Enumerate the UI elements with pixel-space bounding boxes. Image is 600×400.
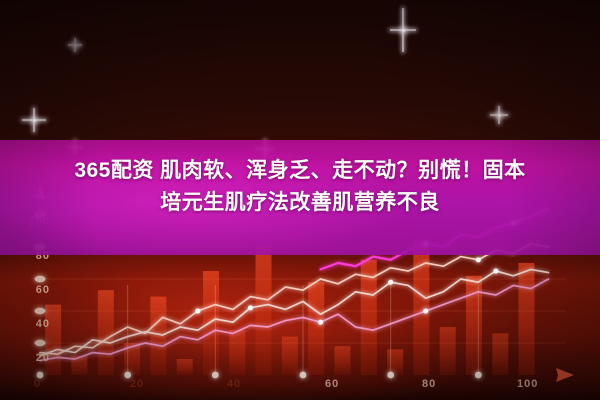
bar bbox=[177, 359, 193, 375]
data-point-marker bbox=[318, 320, 323, 325]
y-tick-dot bbox=[35, 276, 46, 282]
data-point-marker bbox=[423, 308, 428, 313]
x-tick-dot bbox=[387, 372, 394, 379]
data-point-marker bbox=[476, 257, 481, 262]
bar bbox=[45, 305, 61, 375]
bar bbox=[282, 337, 298, 375]
bar bbox=[387, 349, 403, 375]
data-point-marker bbox=[388, 280, 393, 285]
title-line-1: 365配资 肌肉软、浑身乏、走不动？别慌！固本 bbox=[0, 155, 600, 187]
y-tick-dot bbox=[35, 340, 46, 346]
bar bbox=[519, 263, 535, 375]
bar bbox=[466, 276, 482, 375]
y-tick-label-40: 40 bbox=[4, 318, 50, 330]
bar bbox=[256, 245, 272, 375]
x-tick-label-40: 40 bbox=[227, 378, 241, 390]
x-tick-dot bbox=[475, 372, 482, 379]
bar bbox=[334, 346, 350, 375]
x-tick-dot bbox=[212, 372, 219, 379]
bar bbox=[492, 333, 508, 375]
data-point-marker bbox=[248, 305, 253, 310]
bar bbox=[229, 330, 245, 375]
bar bbox=[98, 290, 114, 375]
bar bbox=[413, 241, 429, 375]
bar bbox=[440, 327, 456, 375]
x-tick-label-80: 80 bbox=[422, 378, 436, 390]
bar bbox=[203, 271, 219, 375]
x-tick-label-0: 0 bbox=[34, 378, 41, 390]
x-tick-label-60: 60 bbox=[325, 378, 339, 390]
bar bbox=[150, 297, 166, 375]
y-tick-label-20: 20 bbox=[4, 352, 50, 364]
x-tick-dot bbox=[300, 372, 307, 379]
data-point-marker bbox=[195, 308, 200, 313]
x-axis-arrow-icon bbox=[556, 368, 574, 382]
page-title: 365配资 肌肉软、浑身乏、走不动？别慌！固本 培元生肌疗法改善肌营养不良 bbox=[0, 155, 600, 219]
y-tick-label-60: 60 bbox=[4, 284, 50, 296]
title-line-2: 培元生肌疗法改善肌营养不良 bbox=[0, 187, 600, 219]
x-tick-label-100: 100 bbox=[517, 378, 538, 390]
bar bbox=[308, 282, 324, 375]
promo-chart-graphic: 100 80 60 40 20 0 20 40 60 80 100 365配资 … bbox=[0, 0, 600, 400]
data-point-marker bbox=[493, 268, 498, 273]
y-tick-dot bbox=[35, 308, 46, 314]
x-tick-label-20: 20 bbox=[130, 378, 144, 390]
